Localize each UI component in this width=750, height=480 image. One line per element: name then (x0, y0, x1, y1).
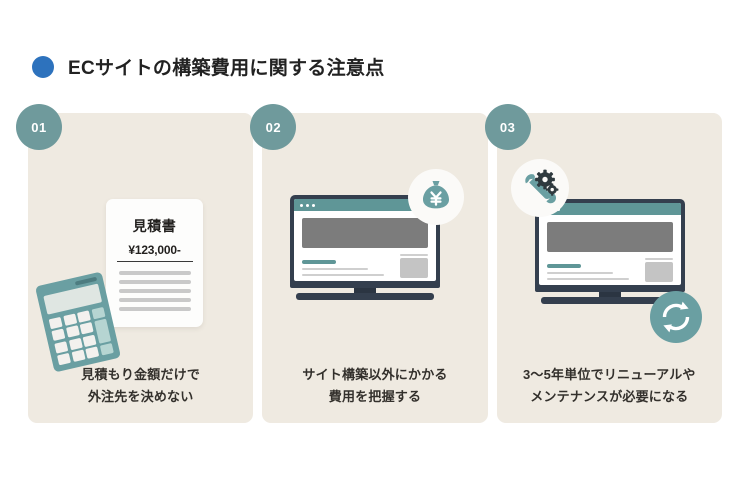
calculator-key (51, 329, 65, 341)
refresh-badge (650, 291, 702, 343)
caption-line: 外注先を決めない (28, 386, 253, 407)
caption-line: メンテナンスが必要になる (497, 386, 722, 407)
caption-line: 3〜5年単位でリニューアルや (497, 364, 722, 385)
placeholder-line (119, 289, 191, 293)
tools-badge (511, 159, 569, 217)
caption-line: 費用を把握する (262, 386, 487, 407)
placeholder-line (119, 298, 191, 302)
cards-row: 01 見積書 ¥123,000- (28, 113, 722, 423)
placeholder-line (119, 271, 191, 275)
browser-dot-icon (312, 204, 315, 207)
card-02[interactable]: 02 (262, 113, 487, 423)
card-caption-02: サイト構築以外にかかる 費用を把握する (262, 364, 487, 407)
card-caption-03: 3〜5年単位でリニューアルや メンテナンスが必要になる (497, 364, 722, 407)
card-03[interactable]: 03 (497, 113, 722, 423)
laptop-screen (539, 203, 681, 285)
page-meta-line (400, 254, 428, 256)
blue-circle-bullet-icon (32, 56, 54, 78)
card-badge-01: 01 (16, 104, 62, 150)
calculator-key (91, 307, 105, 319)
page-meta-line (645, 258, 673, 260)
page-text-line (302, 268, 368, 270)
quotation-title: 見積書 (106, 216, 203, 236)
illustration-laptop-maintenance (497, 143, 722, 353)
placeholder-line (119, 280, 191, 284)
page-accent-bar (302, 260, 336, 264)
page-side-box (645, 262, 673, 282)
page-accent-bar (547, 264, 581, 268)
quotation-placeholder-lines (119, 271, 191, 311)
calculator-key (49, 317, 63, 329)
caption-line: 見積もり金額だけで (28, 364, 253, 385)
page-title: ECサイトの構築費用に関する注意点 (68, 53, 385, 80)
page-content-row (302, 260, 428, 276)
calculator-key (66, 326, 80, 338)
illustration-laptop-money (262, 143, 487, 353)
illustration-quotation-calculator: 見積書 ¥123,000- (28, 143, 253, 353)
caption-line: サイト構築以外にかかる (262, 364, 487, 385)
wrench-and-gears-icon (519, 167, 561, 209)
money-bag-icon (416, 177, 456, 217)
page-content-row (547, 264, 673, 280)
calculator-key (83, 334, 97, 346)
laptop-illustration (535, 199, 685, 305)
calculator-key (77, 310, 91, 322)
calculator-key (80, 322, 94, 334)
page-text-line (547, 278, 629, 280)
card-badge-03: 03 (485, 104, 531, 150)
card-01[interactable]: 01 見積書 ¥123,000- (28, 113, 253, 423)
page-text-line (302, 274, 384, 276)
page-side-box (400, 258, 428, 278)
calculator-key (63, 314, 77, 326)
page-hero-block (302, 218, 428, 248)
refresh-cycle-icon (659, 300, 693, 334)
card-badge-02: 02 (250, 104, 296, 150)
browser-dot-icon (300, 204, 303, 207)
card-caption-01: 見積もり金額だけで 外注先を決めない (28, 364, 253, 407)
quotation-document: 見積書 ¥123,000- (106, 199, 203, 327)
laptop-base (296, 293, 434, 300)
browser-dot-icon (306, 204, 309, 207)
laptop-frame (535, 199, 685, 292)
calculator-key (54, 341, 68, 353)
money-bag-badge (408, 169, 464, 225)
page-hero-block (547, 222, 673, 252)
page-text-line (547, 272, 613, 274)
quotation-amount: ¥123,000- (117, 243, 193, 262)
calculator-key (69, 338, 83, 350)
placeholder-line (119, 307, 191, 311)
page-header: ECサイトの構築費用に関する注意点 (32, 53, 385, 80)
